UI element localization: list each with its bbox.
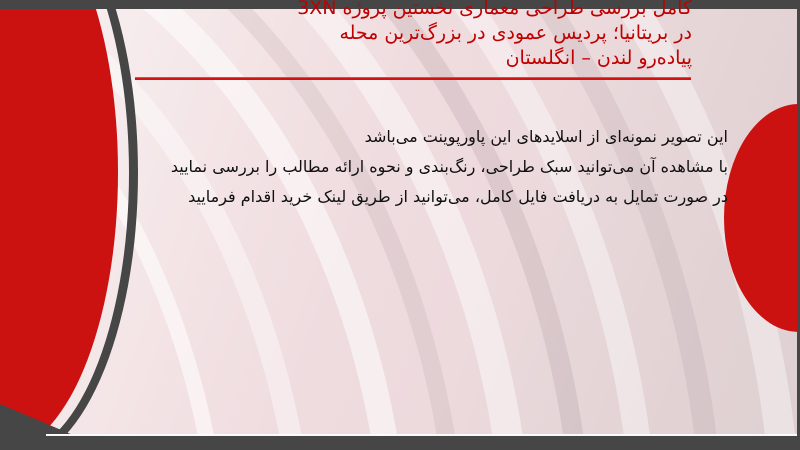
title-line-3: پیاده‌رو لندن – انگلستان <box>92 46 692 71</box>
presentation-slide: کامل بررسی طراحی معماری نخستین پروژه 3XN… <box>0 0 800 450</box>
body-line-3: در صورت تمایل به دریافت فایل کامل، می‌تو… <box>88 182 728 212</box>
title-line-1: کامل بررسی طراحی معماری نخستین پروژه 3XN <box>92 0 692 21</box>
title-underline-rule <box>135 77 691 80</box>
title-line-2: در بریتانیا؛ پردیس عمودی در بزرگ‌ترین مح… <box>92 21 692 46</box>
body-line-1: این تصویر نمونه‌ای از اسلایدهای این پاور… <box>88 122 728 152</box>
slide-title: کامل بررسی طراحی معماری نخستین پروژه 3XN… <box>92 0 692 71</box>
body-line-2: با مشاهده آن می‌توانید سبک طراحی، رنگ‌بن… <box>88 152 728 182</box>
slide-text-layer: کامل بررسی طراحی معماری نخستین پروژه 3XN… <box>0 0 800 450</box>
slide-body-text: این تصویر نمونه‌ای از اسلایدهای این پاور… <box>88 122 728 212</box>
